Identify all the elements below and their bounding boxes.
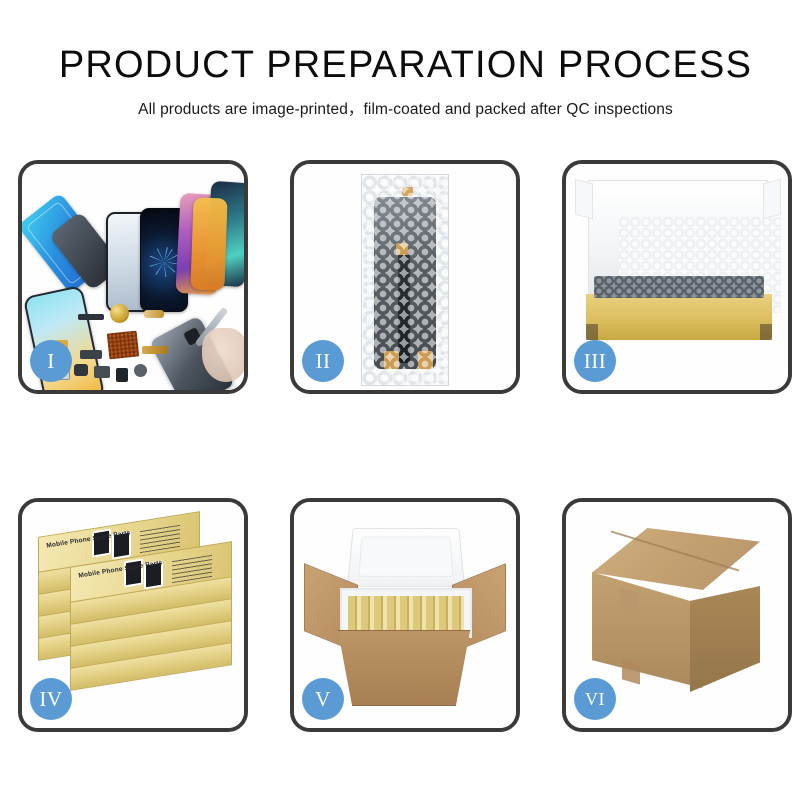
process-step-panel-6[interactable]: VI xyxy=(562,498,792,732)
step-badge-5: V xyxy=(302,678,344,720)
step-badge-3: III xyxy=(574,340,616,382)
carton-front-face xyxy=(592,572,702,688)
step-badge-4: IV xyxy=(30,678,72,720)
tray-corner-left xyxy=(586,324,598,340)
packed-gold-boxes xyxy=(348,596,464,630)
spare-part-3 xyxy=(80,350,102,359)
spare-part-5 xyxy=(74,364,88,376)
gold-connector-1 xyxy=(402,187,413,196)
process-step-panel-2[interactable]: II xyxy=(290,160,520,394)
chip-grid-component xyxy=(107,331,140,360)
phone-screen-amber xyxy=(190,197,227,290)
process-step-panel-3[interactable]: III xyxy=(562,160,792,394)
process-step-grid: I II III xyxy=(18,160,793,732)
carton-tape-lower xyxy=(622,659,640,684)
page-title: PRODUCT PREPARATION PROCESS xyxy=(0,0,811,87)
gold-connector-2 xyxy=(396,243,408,255)
page-subtitle: All products are image-printed，film-coat… xyxy=(0,87,811,119)
carton-body xyxy=(332,630,476,706)
process-step-panel-4[interactable]: Mobile Phone Spare Parts Mobile Phone Sp… xyxy=(18,498,248,732)
spare-part-7 xyxy=(116,368,128,382)
flex-cable xyxy=(398,255,410,363)
spare-part-2 xyxy=(144,310,164,318)
process-step-panel-1[interactable]: I xyxy=(18,160,248,394)
step-badge-1: I xyxy=(30,340,72,382)
hand xyxy=(202,328,244,382)
spare-part-4 xyxy=(142,346,168,354)
sealed-carton xyxy=(580,528,776,696)
foam-box-lid xyxy=(347,528,465,587)
process-step-panel-5[interactable]: V xyxy=(290,498,520,732)
speaker-component xyxy=(110,304,129,323)
gold-box-tray xyxy=(586,294,772,340)
page-header: PRODUCT PREPARATION PROCESS All products… xyxy=(0,0,811,119)
spare-part-1 xyxy=(78,314,104,320)
carton-side-face xyxy=(690,586,760,692)
spare-part-8 xyxy=(134,364,147,377)
tray-corner-right xyxy=(760,324,772,340)
step-badge-6: VI xyxy=(574,678,616,720)
spare-part-6 xyxy=(94,366,110,378)
gold-connector-4 xyxy=(418,351,433,369)
step-badge-2: II xyxy=(302,340,344,382)
gold-connector-3 xyxy=(384,351,399,369)
bubble-wrap-bag xyxy=(361,174,449,386)
